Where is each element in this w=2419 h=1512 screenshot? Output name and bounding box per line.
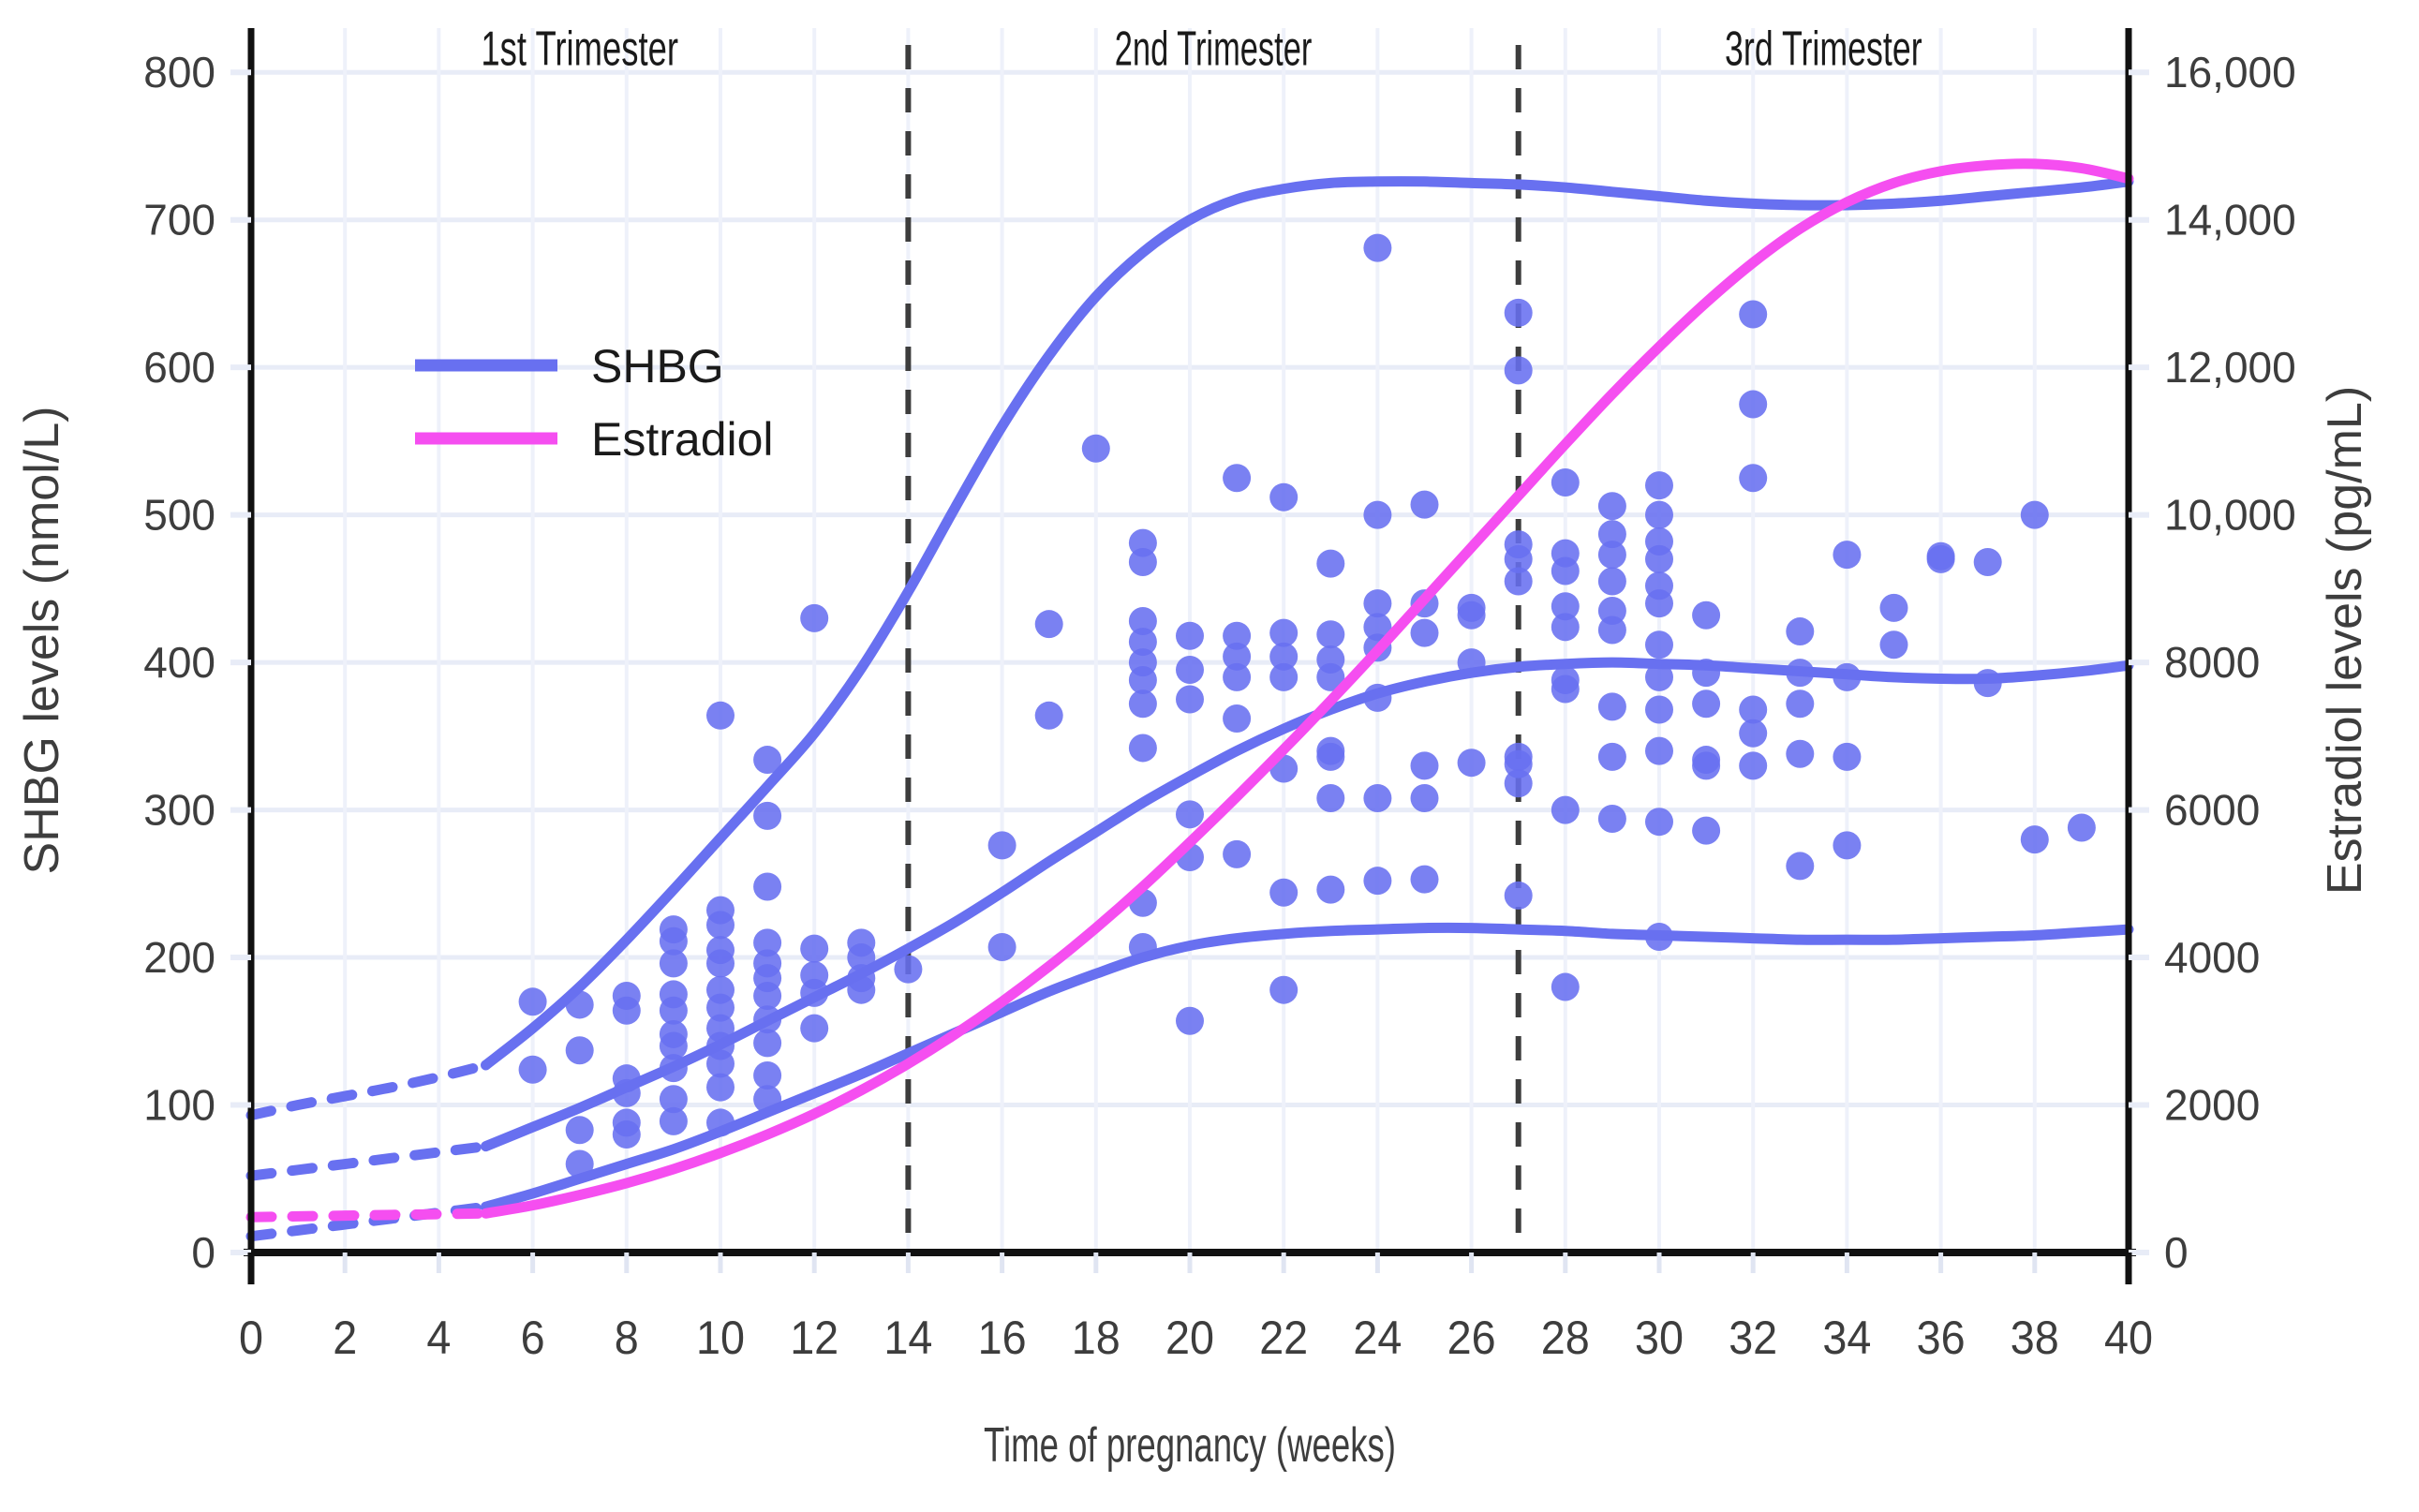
scatter-point (1833, 831, 1861, 859)
scatter-point (1363, 501, 1391, 529)
x-tick-label: 8 (615, 1312, 639, 1364)
scatter-point (1505, 882, 1533, 910)
scatter-point (1223, 663, 1251, 691)
scatter-point (1833, 541, 1861, 569)
scatter-point (660, 949, 688, 977)
scatter-point (1551, 556, 1580, 585)
x-tick-label: 12 (790, 1312, 838, 1364)
x-tick-label: 30 (1635, 1312, 1684, 1364)
scatter-point (1316, 743, 1344, 771)
scatter-point (1786, 740, 1814, 768)
scatter-point (1645, 630, 1673, 659)
x-tick-label: 38 (2011, 1312, 2059, 1364)
scatter-point (1505, 568, 1533, 596)
scatter-point (1082, 435, 1110, 463)
trimester-label: 2nd Trimester (1115, 22, 1313, 76)
scatter-point (1739, 300, 1767, 328)
scatter-point (1505, 356, 1533, 384)
x-tick-label: 22 (1259, 1312, 1308, 1364)
scatter-point (613, 997, 641, 1025)
scatter-point (1316, 550, 1344, 578)
scatter-point (1786, 617, 1814, 645)
scatter-point (2021, 501, 2049, 529)
y2-tick-label: 14,000 (2164, 196, 2296, 245)
scatter-point (1411, 784, 1439, 812)
y-tick-label: 400 (143, 638, 215, 687)
y2-tick-label: 4000 (2164, 933, 2260, 982)
scatter-point (988, 933, 1017, 961)
scatter-point (1645, 737, 1673, 765)
scatter-point (753, 802, 781, 830)
y-axis-title: SHBG levels (nmol/L) (15, 407, 69, 875)
trimester-label: 1st Trimester (481, 22, 678, 76)
y-tick-label: 100 (143, 1081, 215, 1130)
scatter-point (706, 949, 735, 977)
x-tick-label: 28 (1541, 1312, 1590, 1364)
chart-root: 0100200300400500600700800020004000600080… (0, 0, 2419, 1512)
scatter-point (1739, 391, 1767, 419)
x-tick-label: 36 (1917, 1312, 1966, 1364)
scatter-point (1223, 704, 1251, 733)
scatter-point (1316, 876, 1344, 904)
scatter-point (1551, 796, 1580, 824)
scatter-point (1269, 976, 1298, 1004)
scatter-point (1363, 234, 1391, 262)
y-tick-label: 600 (143, 343, 215, 392)
scatter-point (1411, 491, 1439, 519)
scatter-point (1269, 879, 1298, 907)
scatter-point (1411, 751, 1439, 779)
scatter-point (1598, 541, 1626, 569)
scatter-point (1505, 299, 1533, 327)
scatter-point (1598, 692, 1626, 720)
x-tick-label: 32 (1729, 1312, 1777, 1364)
scatter-point (1505, 769, 1533, 797)
scatter-point (1551, 973, 1580, 1001)
x-tick-label: 18 (1072, 1312, 1120, 1364)
scatter-point (1645, 696, 1673, 724)
scatter-point (800, 1015, 828, 1043)
scatter-point (1035, 610, 1063, 638)
scatter-point (1176, 622, 1204, 650)
scatter-point (800, 604, 828, 632)
y-tick-label: 200 (143, 933, 215, 982)
scatter-point (1035, 702, 1063, 730)
scatter-point (566, 1036, 594, 1064)
x-tick-label: 24 (1353, 1312, 1402, 1364)
scatter-point (1692, 751, 1720, 779)
scatter-point (1176, 685, 1204, 713)
scatter-point (1223, 464, 1251, 492)
scatter-point (1692, 601, 1720, 630)
scatter-point (753, 1029, 781, 1057)
y-tick-label: 700 (143, 196, 215, 245)
x-tick-label: 40 (2104, 1312, 2153, 1364)
trimester-label: 3rd Trimester (1725, 22, 1922, 76)
y2-axis-title: Estradiol levels (pg/mL) (2318, 386, 2372, 895)
x-tick-label: 10 (696, 1312, 745, 1364)
scatter-point (1645, 545, 1673, 573)
scatter-point (613, 1120, 641, 1149)
scatter-point (1458, 749, 1486, 777)
y-tick-label: 0 (191, 1228, 215, 1277)
scatter-point (1692, 689, 1720, 718)
scatter-point (1176, 1007, 1204, 1035)
scatter-point (1880, 594, 1908, 622)
scatter-point (1129, 548, 1157, 576)
scatter-point (706, 702, 735, 730)
scatter-point (1598, 743, 1626, 771)
y-tick-label: 500 (143, 491, 215, 540)
scatter-point (1645, 471, 1673, 499)
scatter-point (1316, 784, 1344, 812)
scatter-point (1645, 501, 1673, 529)
scatter-point (660, 1107, 688, 1135)
x-tick-label: 4 (426, 1312, 451, 1364)
scatter-point (753, 872, 781, 900)
scatter-point (1363, 867, 1391, 895)
scatter-point (1363, 784, 1391, 812)
scatter-point (1598, 492, 1626, 520)
scatter-point (1786, 852, 1814, 880)
y2-tick-label: 2000 (2164, 1081, 2260, 1130)
x-tick-label: 2 (333, 1312, 357, 1364)
scatter-point (1269, 483, 1298, 511)
scatter-point (1269, 663, 1298, 691)
chart-background (0, 0, 2419, 1512)
x-tick-label: 26 (1447, 1312, 1496, 1364)
scatter-point (1458, 601, 1486, 630)
scatter-point (800, 935, 828, 963)
scatter-point (1739, 464, 1767, 492)
x-tick-label: 14 (883, 1312, 932, 1364)
scatter-point (1598, 615, 1626, 644)
scatter-point (1786, 689, 1814, 718)
x-axis-title: Time of pregnancy (weeks) (984, 1418, 1396, 1473)
scatter-point (1176, 656, 1204, 684)
scatter-point (1223, 840, 1251, 868)
scatter-point (1551, 613, 1580, 641)
scatter-point (2021, 825, 2049, 853)
scatter-point (706, 911, 735, 939)
y2-tick-label: 0 (2164, 1228, 2189, 1277)
scatter-point (1316, 620, 1344, 648)
y-tick-label: 300 (143, 786, 215, 835)
x-tick-label: 6 (521, 1312, 545, 1364)
x-tick-label: 34 (1822, 1312, 1871, 1364)
y2-tick-label: 10,000 (2164, 491, 2296, 540)
scatter-point (1551, 468, 1580, 497)
scatter-point (1411, 619, 1439, 647)
scatter-point (1739, 751, 1767, 779)
scatter-point (2068, 813, 2096, 841)
scatter-point (1176, 800, 1204, 828)
scatter-point (1833, 743, 1861, 771)
y2-tick-label: 8000 (2164, 638, 2260, 687)
scatter-point (519, 987, 547, 1015)
scatter-point (1692, 817, 1720, 845)
scatter-point (1739, 719, 1767, 748)
scatter-point (1974, 548, 2002, 576)
scatter-point (1927, 545, 1955, 573)
legend-label-estradiol: Estradiol (591, 413, 774, 466)
x-tick-label: 0 (239, 1312, 263, 1364)
dual-axis-chart: 0100200300400500600700800020004000600080… (0, 0, 2419, 1512)
scatter-point (566, 1116, 594, 1144)
scatter-point (1411, 866, 1439, 894)
scatter-point (1645, 808, 1673, 836)
scatter-point (1880, 630, 1908, 659)
scatter-point (706, 1074, 735, 1102)
scatter-point (519, 1056, 547, 1084)
scatter-point (1129, 734, 1157, 762)
legend-label-shbg: SHBG (591, 340, 724, 393)
y2-tick-label: 6000 (2164, 786, 2260, 835)
y2-tick-label: 12,000 (2164, 343, 2296, 392)
scatter-point (1598, 568, 1626, 596)
scatter-point (988, 831, 1017, 859)
scatter-point (1551, 674, 1580, 703)
y-tick-label: 800 (143, 48, 215, 96)
x-tick-label: 16 (978, 1312, 1027, 1364)
scatter-point (1129, 689, 1157, 718)
x-tick-label: 20 (1165, 1312, 1214, 1364)
scatter-point (1598, 805, 1626, 833)
y2-tick-label: 16,000 (2164, 48, 2296, 96)
scatter-point (1645, 589, 1673, 617)
